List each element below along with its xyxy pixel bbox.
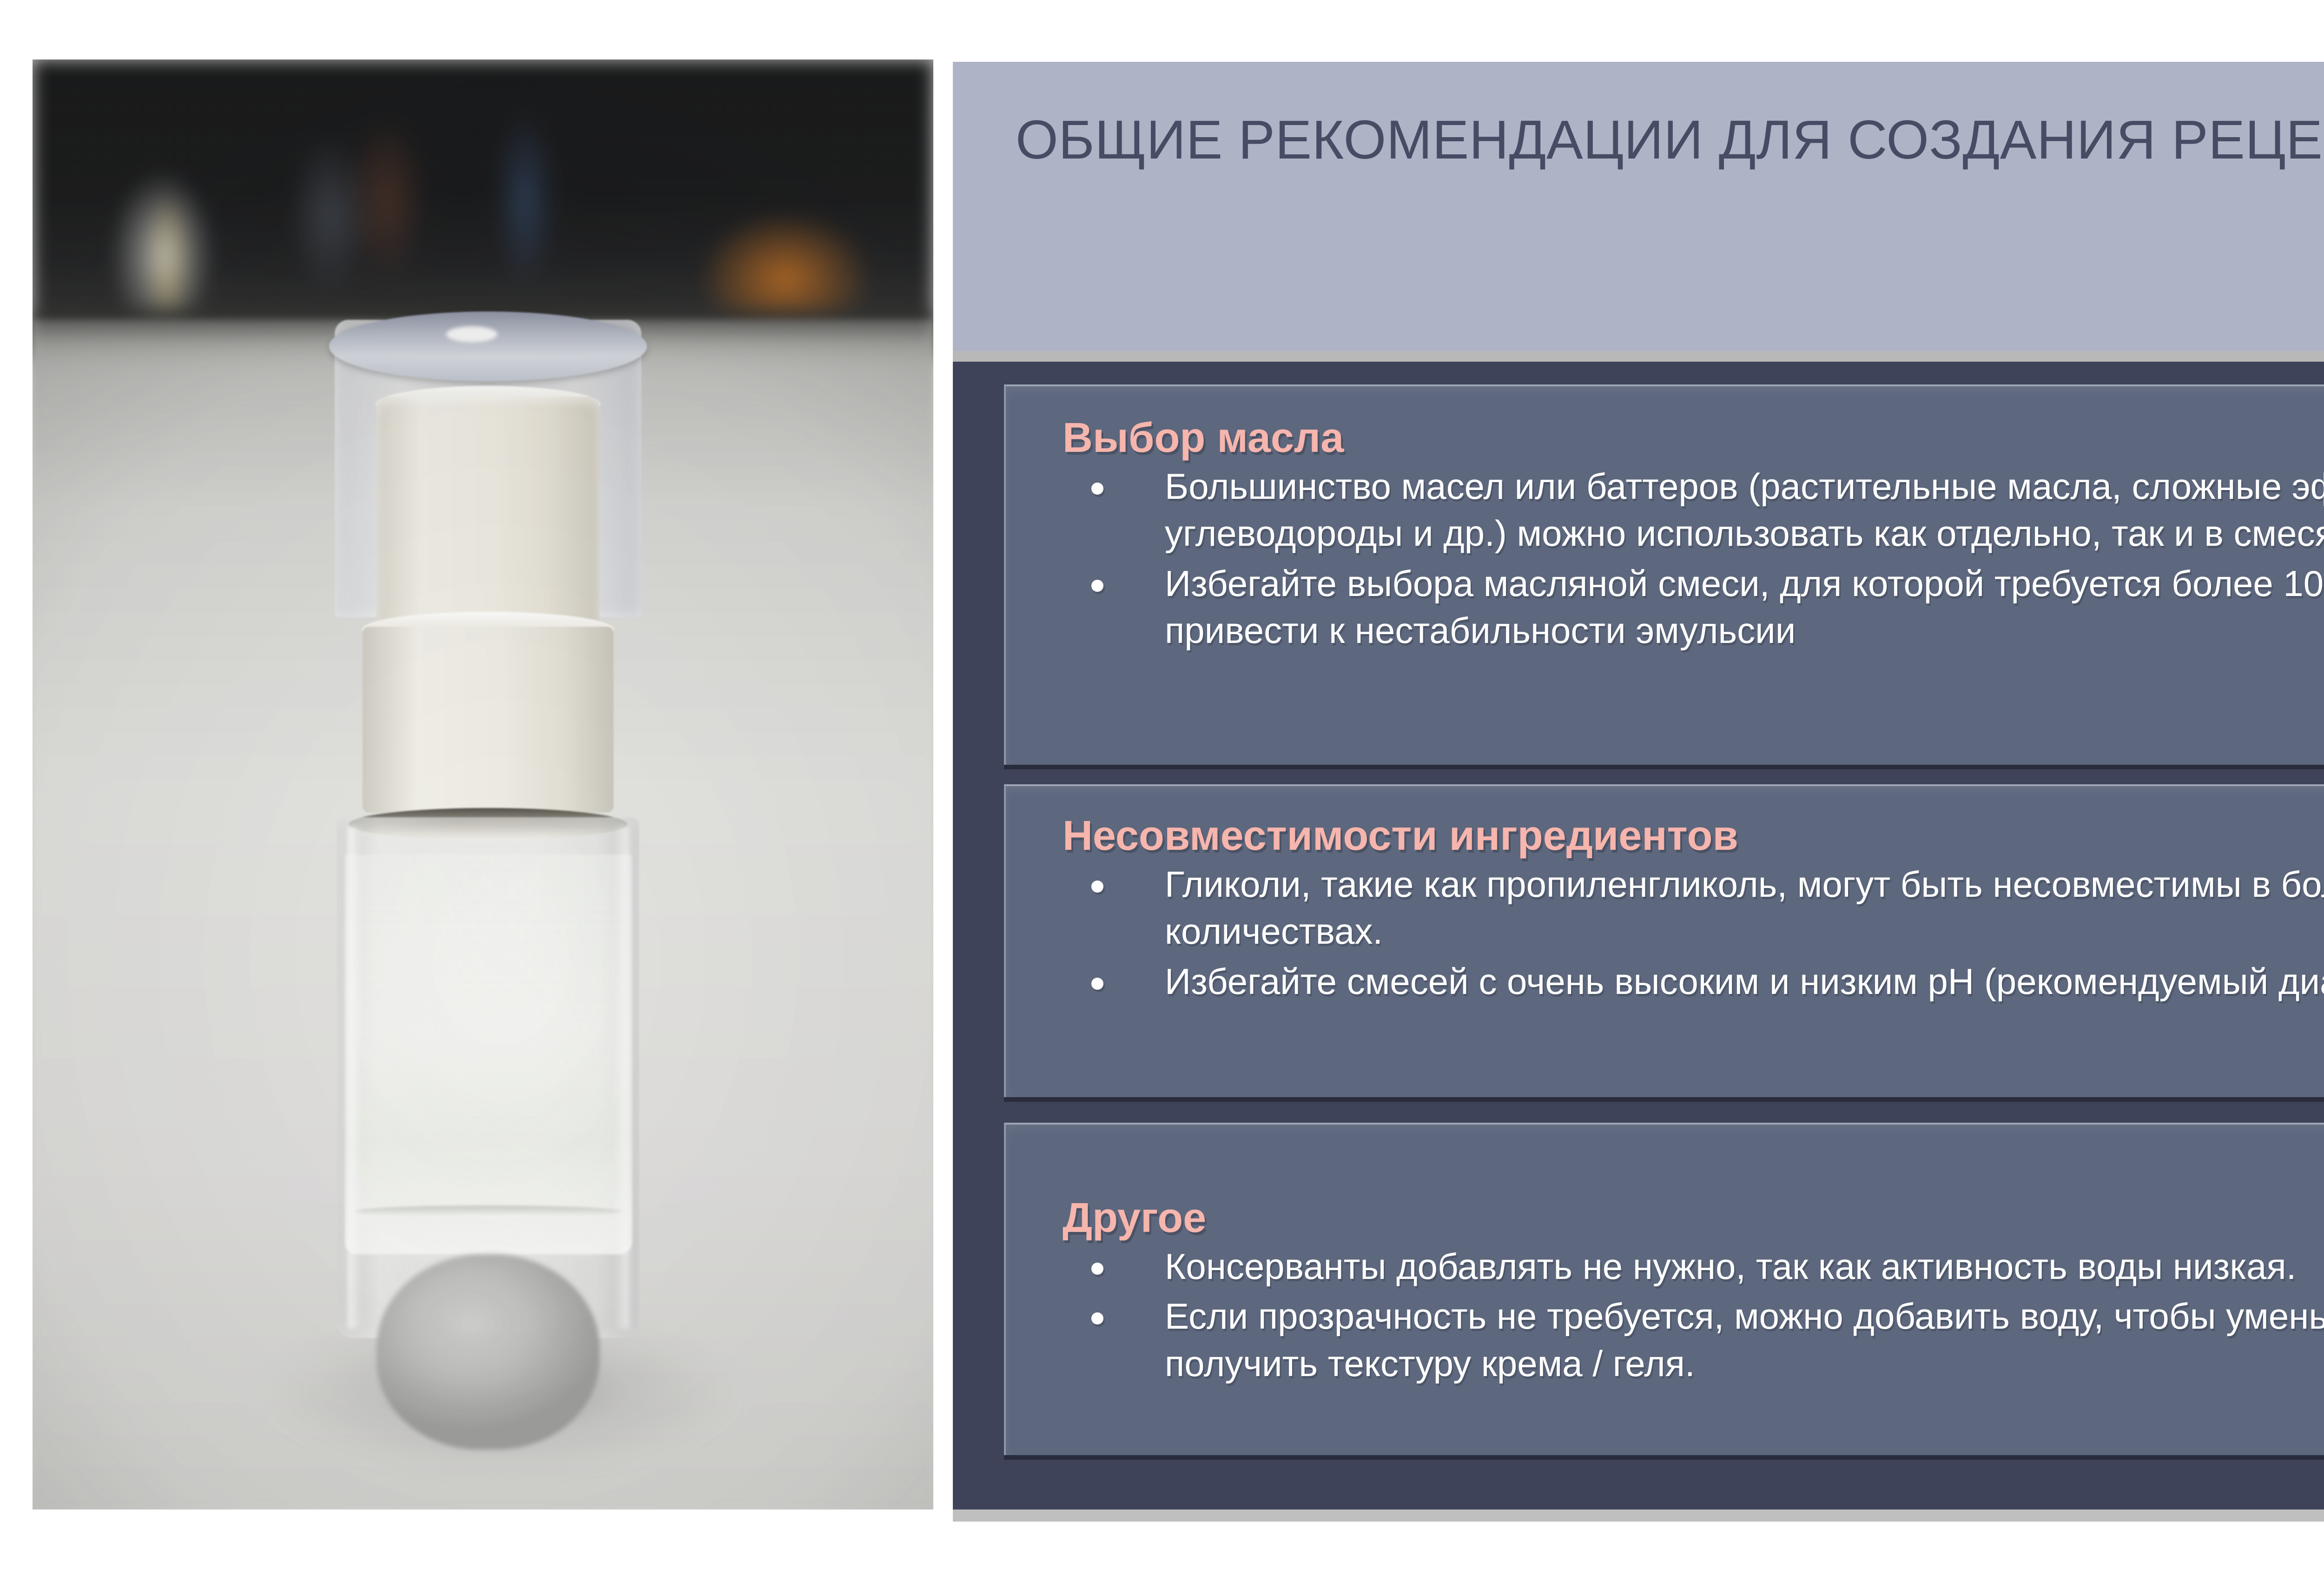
bullet-dot-icon — [1091, 1312, 1103, 1324]
bullet-item: Избегайте выбора масляной смеси, для кот… — [1063, 560, 2324, 655]
bullet-text: Гликоли, такие как пропиленгликоль, могу… — [1165, 864, 2324, 952]
section-bullet-list: Консерванты добавлять не нужно, так как … — [1006, 1243, 2324, 1387]
section-bullet-list: Большинство масел или баттеров (растител… — [1006, 463, 2324, 655]
section-card-incompatibilities: Несовместимости ингредиентов Гликоли, та… — [1004, 784, 2324, 1097]
bullet-text: Консерванты добавлять не нужно, так как … — [1165, 1246, 2296, 1287]
section-card-other: Другое Консерванты добавлять не нужно, т… — [1004, 1123, 2324, 1455]
bullet-text: Если прозрачность не требуется, можно до… — [1165, 1296, 2324, 1384]
slide-body-panel: Выбор масла Большинство масел или баттер… — [953, 362, 2324, 1509]
bullet-text: Избегайте смесей с очень высоким и низки… — [1165, 961, 2324, 1002]
photo-vignette — [33, 60, 933, 1509]
bullet-dot-icon — [1091, 880, 1103, 893]
bullet-item: Гликоли, такие как пропиленгликоль, могу… — [1063, 861, 2324, 955]
bullet-text: Большинство масел или баттеров (растител… — [1165, 466, 2324, 554]
bullet-text: Избегайте выбора масляной смеси, для кот… — [1165, 563, 2324, 651]
bullet-dot-icon — [1091, 483, 1103, 495]
product-photo — [33, 60, 933, 1509]
bullet-item: Консерванты добавлять не нужно, так как … — [1063, 1243, 2324, 1290]
slide-title: ОБЩИЕ РЕКОМЕНДАЦИИ ДЛЯ СОЗДАНИЯ РЕЦЕПТУР — [1016, 103, 2324, 177]
section-bullet-list: Гликоли, такие как пропиленгликоль, могу… — [1006, 861, 2324, 1005]
section-heading: Другое — [1063, 1195, 2324, 1241]
bullet-item: Большинство масел или баттеров (растител… — [1063, 463, 2324, 557]
bullet-item: Если прозрачность не требуется, можно до… — [1063, 1293, 2324, 1387]
section-card-oil-choice: Выбор масла Большинство масел или баттер… — [1004, 384, 2324, 765]
slide-header-panel: ОБЩИЕ РЕКОМЕНДАЦИИ ДЛЯ СОЗДАНИЯ РЕЦЕПТУР — [953, 62, 2324, 351]
section-heading: Выбор масла — [1063, 415, 2324, 461]
bullet-dot-icon — [1091, 978, 1103, 990]
bullet-dot-icon — [1091, 580, 1103, 592]
bullet-item: Избегайте смесей с очень высоким и низки… — [1063, 958, 2324, 1005]
bullet-dot-icon — [1091, 1263, 1103, 1275]
section-heading: Несовместимости ингредиентов — [1063, 813, 2324, 859]
